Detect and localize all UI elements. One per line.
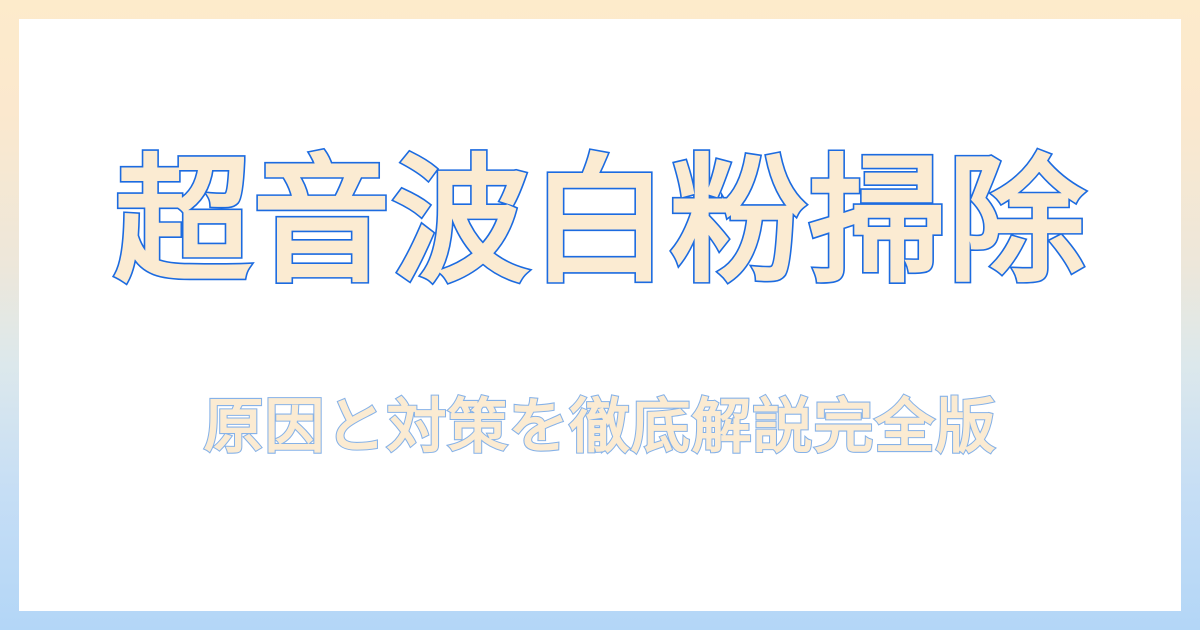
content-panel: 超音波白粉掃除 原因と対策を徹底解説完全版 xyxy=(19,19,1181,611)
page-subtitle: 原因と対策を徹底解説完全版 xyxy=(204,391,997,463)
subtitle-container: 原因と対策を徹底解説完全版 xyxy=(19,391,1181,463)
thumbnail-card: 超音波白粉掃除 原因と対策を徹底解説完全版 xyxy=(0,0,1200,630)
title-container: 超音波白粉掃除 xyxy=(19,141,1181,304)
page-title: 超音波白粉掃除 xyxy=(113,141,1086,304)
